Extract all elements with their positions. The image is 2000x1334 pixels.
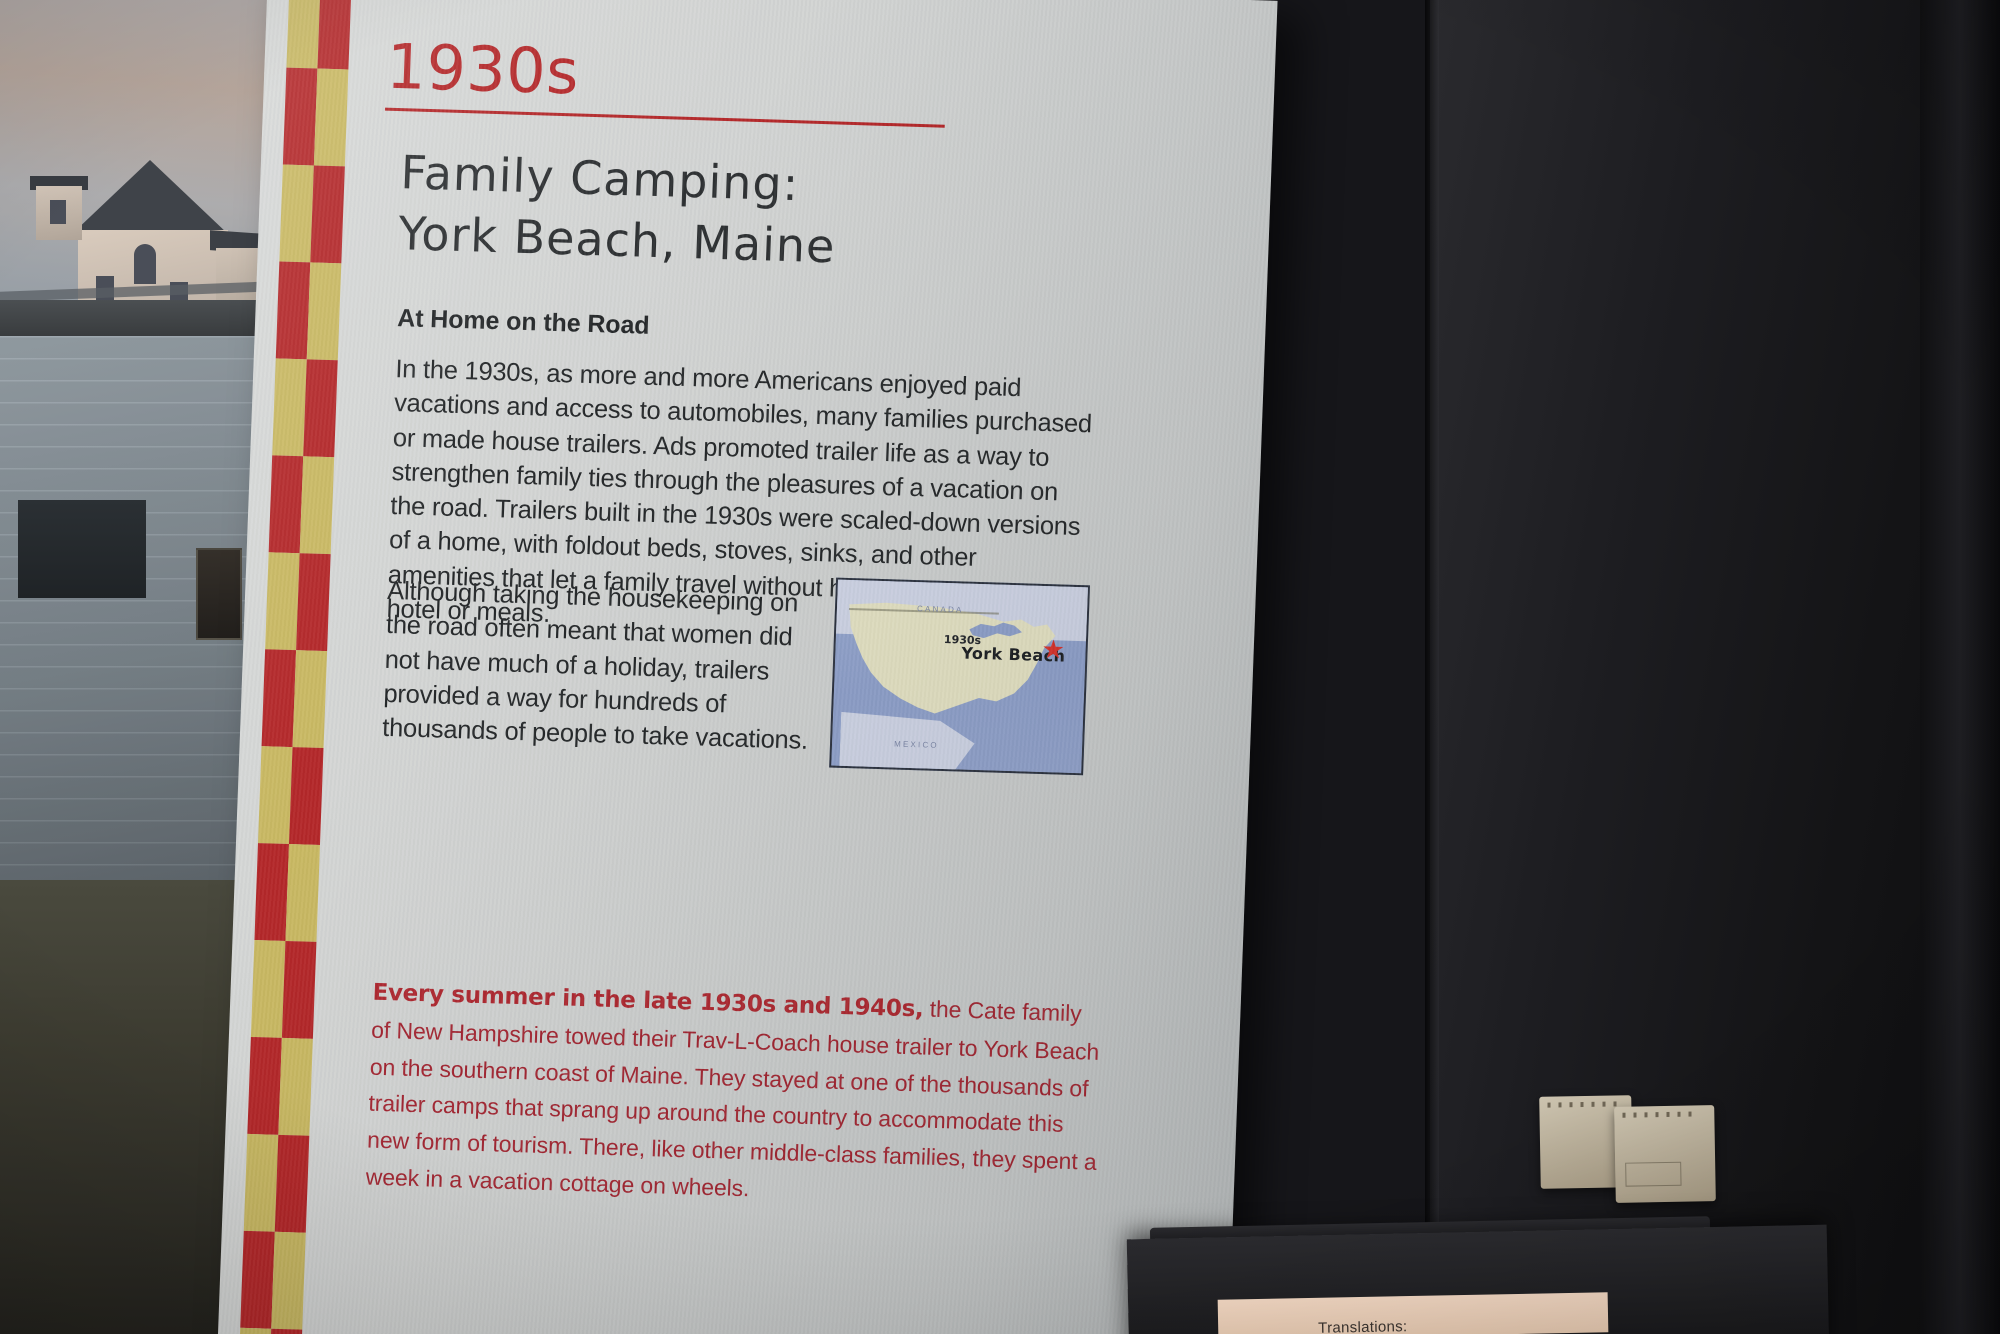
checker-swatch [286, 0, 321, 69]
caption-paragraph: Every summer in the late 1930s and 1940s… [365, 974, 1103, 1218]
checker-swatch [289, 747, 324, 845]
mural-house-roof [72, 160, 228, 234]
body-text-2: Although taking the housekeeping on the … [382, 574, 818, 759]
checker-swatch [254, 843, 289, 941]
checker-swatch [258, 746, 293, 844]
mural-window [134, 244, 156, 284]
checker-swatch [314, 69, 349, 167]
mural-house-dormer [36, 186, 82, 240]
caption-lead-in: Every summer in the late 1930s and 1940s… [372, 980, 924, 1023]
translations-card: Translations: [1218, 1292, 1609, 1334]
checker-swatch [283, 68, 318, 166]
shelf-object-slots [1622, 1111, 1694, 1117]
gallery-wall-right [1430, 0, 2000, 1334]
translations-label: Translations: [1318, 1318, 1408, 1334]
shelf-object-slots [1547, 1101, 1619, 1107]
checker-swatch [303, 359, 338, 457]
body-paragraph-secondary: Although taking the housekeeping on the … [382, 574, 818, 759]
checker-swatch [271, 1232, 306, 1330]
map-label-mexico: MEXICO [894, 739, 939, 749]
checker-swatch [237, 1328, 272, 1334]
shelf-object [1614, 1105, 1716, 1203]
checker-swatch [279, 165, 314, 263]
checker-swatch [307, 262, 342, 360]
mural-dark-opening [18, 500, 146, 598]
checker-swatch [268, 1329, 303, 1334]
mural-doorway [196, 548, 242, 640]
checker-swatch [285, 844, 320, 942]
gallery-wall-edge [1425, 0, 1439, 1334]
page-title: Family Camping: York Beach, Maine [397, 142, 1141, 286]
map-star-marker-icon: ★ [1041, 636, 1065, 663]
gallery-wall-far [1920, 0, 2000, 1334]
panel-content: 1930s Family Camping: York Beach, Maine … [338, 0, 1219, 1334]
checker-swatch [275, 1135, 310, 1233]
checker-swatch [272, 358, 307, 456]
checker-swatch [317, 0, 352, 70]
checker-swatch [282, 941, 317, 1039]
checker-swatch [265, 552, 300, 650]
checker-swatch [310, 165, 345, 263]
checker-swatch [240, 1231, 275, 1329]
checker-swatch [276, 261, 311, 359]
checker-swatch [300, 456, 335, 554]
section-subheading: At Home on the Road [397, 304, 650, 341]
checker-swatch [247, 1037, 282, 1135]
shelf-object-panel [1625, 1162, 1681, 1187]
caption-body: the Cate family of New Hampshire towed t… [365, 995, 1099, 1201]
checker-swatch [269, 455, 304, 553]
mural-window [50, 200, 66, 224]
exhibit-photo-scene: 1930s Family Camping: York Beach, Maine … [0, 0, 2000, 1334]
checker-swatch [244, 1134, 279, 1232]
checker-swatch [296, 553, 331, 651]
checker-swatch [262, 649, 297, 747]
checker-swatch [293, 650, 328, 748]
map-label-canada: CANADA [917, 604, 964, 614]
exhibit-panel: 1930s Family Camping: York Beach, Maine … [216, 0, 1277, 1334]
checker-swatch [278, 1038, 313, 1136]
era-heading: 1930s [385, 36, 947, 115]
checker-swatch [251, 940, 286, 1038]
locator-map: CANADA MEXICO 1930s York Beach ★ [829, 578, 1090, 776]
